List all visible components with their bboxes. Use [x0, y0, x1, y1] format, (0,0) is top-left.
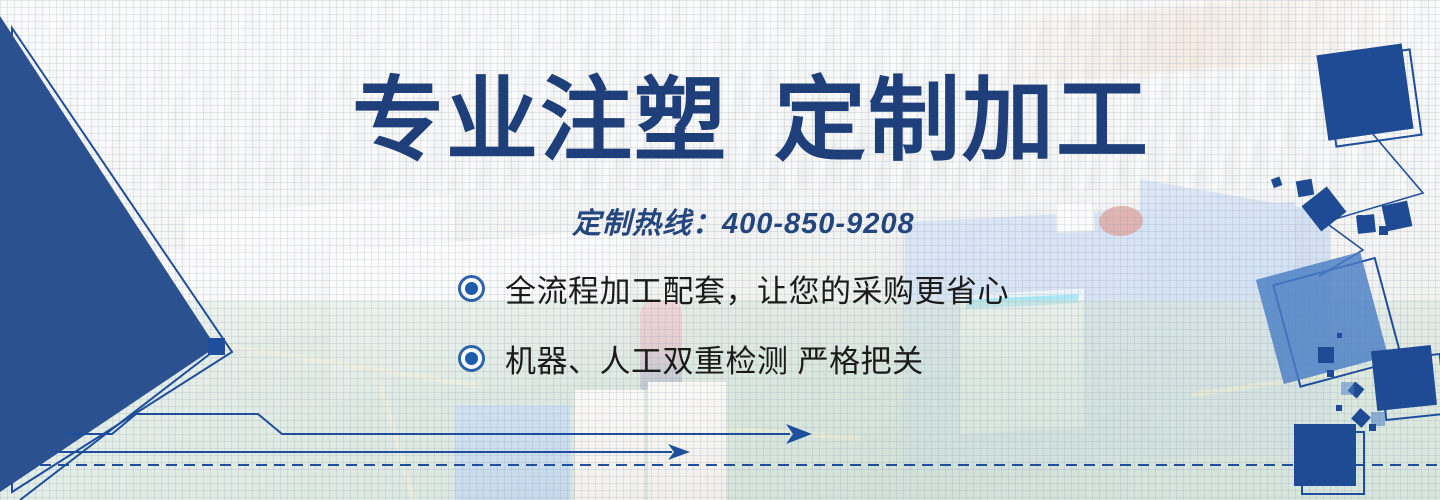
page-title: 专业注塑定制加工: [352, 72, 1150, 171]
hotline-text: 定制热线：400-850-9208: [572, 200, 915, 242]
list-item-label: 全流程加工配套，让您的采购更省心: [505, 266, 1009, 311]
radio-dot-icon: [458, 345, 485, 372]
radio-dot-icon: [458, 275, 485, 302]
list-item: 机器、人工双重检测 严格把关: [458, 336, 1009, 380]
list-item-label: 机器、人工双重检测 严格把关: [505, 336, 924, 381]
promo-banner: 专业注塑定制加工 定制热线：400-850-9208 全流程加工配套，让您的采购…: [0, 0, 1440, 500]
list-item: 全流程加工配套，让您的采购更省心: [458, 266, 1009, 310]
feature-list: 全流程加工配套，让您的采购更省心 机器、人工双重检测 严格把关: [458, 266, 1009, 406]
headline-part-2: 定制加工: [774, 70, 1150, 172]
banner-content: 专业注塑定制加工 定制热线：400-850-9208 全流程加工配套，让您的采购…: [0, 0, 1440, 500]
headline-part-1: 专业注塑: [352, 70, 728, 172]
